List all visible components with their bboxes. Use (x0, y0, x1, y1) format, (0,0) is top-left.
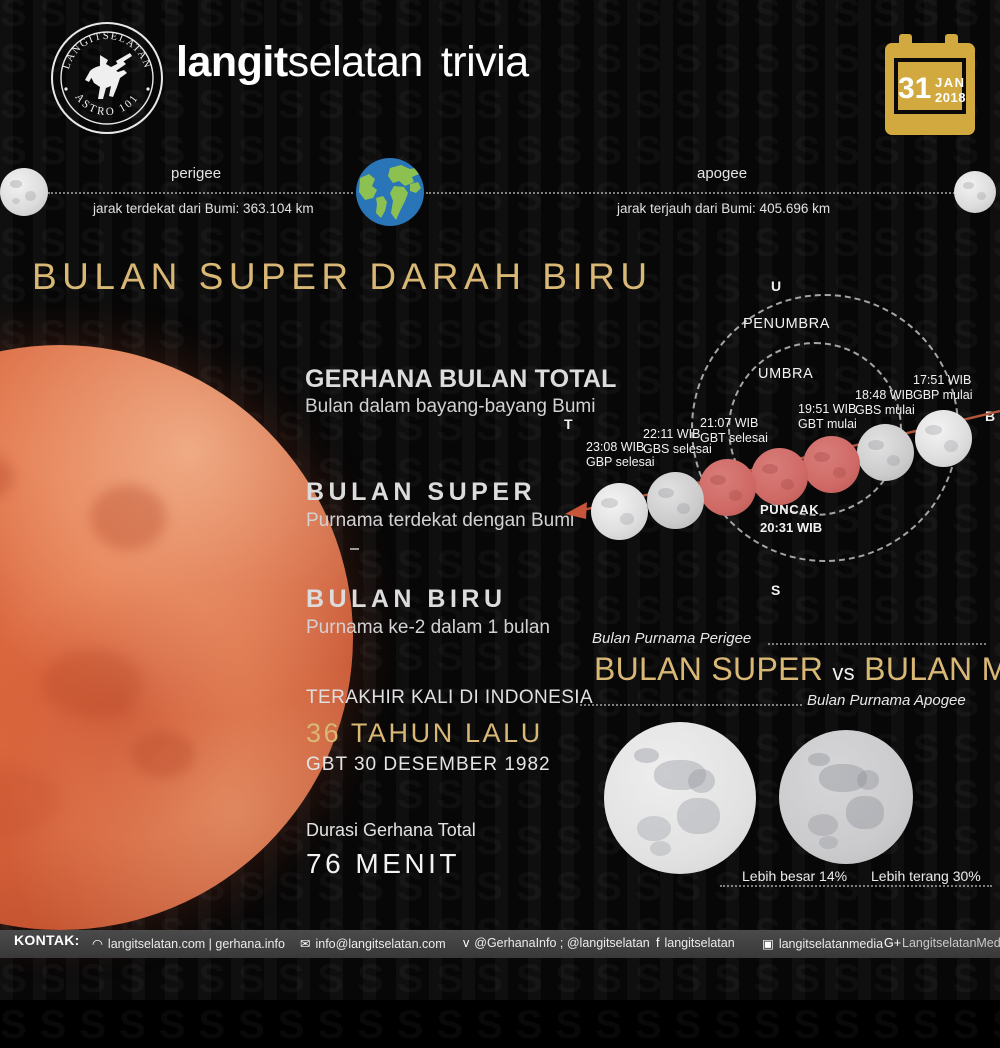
svm-title-right: BULAN MINI (864, 651, 1000, 687)
apogee-moon-icon (954, 171, 996, 213)
rss-icon: ◠ (92, 936, 103, 951)
contact-website-text: langitselatan.com | gerhana.info (108, 937, 285, 951)
contact-email[interactable]: ✉info@langitselatan.com (300, 936, 446, 951)
eclipse-diagram: U S T B PENUMBRA UMBRA 17:51 WIB GB (555, 270, 1000, 620)
phase-time-2: 19:51 WIB (798, 402, 857, 417)
fact-title-1: BULAN SUPER (306, 478, 536, 507)
contact-instagram-text: langitselatanmedia (779, 937, 883, 951)
instagram-icon: ▣ (762, 936, 774, 951)
apogee-dotted-line (426, 192, 955, 194)
perigee-dotted-line (48, 192, 353, 194)
perigee-label: perigee (171, 165, 221, 182)
fact-sub-2: Purnama ke-2 dalam 1 bulan (306, 617, 550, 639)
contact-twitter-text: @GerhanaInfo ; @langitselatan (474, 936, 649, 950)
eclipse-moon-21-07 (699, 459, 756, 516)
contact-instagram[interactable]: ▣langitselatanmedia (762, 936, 883, 951)
phase-time-5: 23:08 WIB (586, 440, 655, 455)
svm-title: BULAN SUPER vs BULAN MINI (594, 651, 1000, 688)
logo-arc-bottom: ASTRO 101 (72, 91, 141, 118)
earth-icon (356, 158, 424, 226)
googleplus-icon: G+ (884, 936, 901, 950)
envelope-icon: ✉ (300, 936, 310, 951)
phase-event-5: GBP selesai (586, 455, 655, 470)
svm-caption-top: Bulan Purnama Perigee (592, 630, 751, 647)
eclipse-moon-19-51 (803, 436, 860, 493)
phase-event-2: GBT mulai (798, 417, 857, 432)
calendar-year: 2018 (935, 90, 966, 105)
last-time-value: 36 TAHUN LALU (306, 718, 543, 749)
langitselatan-logo: LANGITSELATAN ASTRO 101 (48, 19, 166, 137)
contact-website[interactable]: ◠langitselatan.com | gerhana.info (92, 936, 285, 951)
contact-twitter[interactable]: ᴠ@GerhanaInfo ; @langitselatan (463, 936, 650, 950)
small-dash-divider (350, 548, 359, 550)
contact-facebook[interactable]: flangitselatan (656, 936, 735, 950)
contact-label: KONTAK: (14, 932, 80, 948)
brand-title: langitselatantrivia (176, 38, 529, 87)
phase-label-19-51: 19:51 WIB GBT mulai (798, 402, 857, 432)
twitter-icon: ᴠ (463, 936, 469, 950)
fact-sub-1: Purnama terdekat dengan Bumi (306, 510, 574, 532)
brand-light: selatan (288, 38, 423, 86)
svm-note-right: Lebih terang 30% (871, 868, 981, 884)
eclipse-moon-17-51 (915, 410, 972, 467)
facebook-icon: f (656, 936, 659, 950)
calendar-month: JAN (935, 75, 966, 90)
contact-email-text: info@langitselatan.com (315, 937, 445, 951)
eclipse-moon-18-48 (857, 424, 914, 481)
phase-event-0: GBP mulai (913, 388, 973, 403)
phase-event-1: GBS mulai (855, 403, 915, 418)
phase-time-1: 18:48 WIB (855, 388, 915, 403)
perigee-sub: jarak terdekat dari Bumi: 363.104 km (93, 201, 314, 216)
svm-title-vs: vs (832, 660, 855, 685)
svg-text:ASTRO 101: ASTRO 101 (72, 91, 141, 118)
blood-moon-image (0, 345, 353, 930)
contact-googleplus[interactable]: G+LangitselatanMedia (884, 936, 1000, 950)
peak-time: 20:31 WIB (760, 520, 822, 535)
phase-label-18-48: 18:48 WIB GBS mulai (855, 388, 915, 418)
fact-title-2: BULAN BIRU (306, 585, 507, 614)
brand-bold: langit (176, 38, 288, 86)
fact-sub-0: Bulan dalam bayang-bayang Bumi (305, 396, 595, 418)
apogee-label: apogee (697, 165, 747, 182)
peak-label: PUNCAK (760, 502, 819, 517)
phase-time-0: 17:51 WIB (913, 373, 973, 388)
phase-label-23-08: 23:08 WIB GBP selesai (586, 440, 655, 470)
brand-suffix: trivia (441, 38, 529, 86)
duration-value: 76 MENIT (306, 848, 460, 880)
svm-title-left: BULAN SUPER (594, 651, 823, 687)
minimoon-disc (779, 730, 913, 864)
date-badge: 31 JAN 2018 (885, 34, 975, 135)
phase-label-17-51: 17:51 WIB GBP mulai (913, 373, 973, 403)
svm-caption-bottom: Bulan Purnama Apogee (807, 692, 966, 709)
svm-dotline-notes (720, 885, 992, 887)
apogee-sub: jarak terjauh dari Bumi: 405.696 km (617, 201, 830, 216)
super-vs-mini-section: Bulan Purnama Perigee BULAN SUPER vs BUL… (572, 630, 992, 900)
contact-facebook-text: langitselatan (664, 936, 734, 950)
eclipse-moon-22-11 (647, 472, 704, 529)
duration-label: Durasi Gerhana Total (306, 820, 476, 841)
centaur-figure (85, 53, 132, 99)
eclipse-moon-23-08 (591, 483, 648, 540)
eclipse-moon-peak (751, 448, 808, 505)
contact-googleplus-text: LangitselatanMedia (902, 936, 1000, 950)
svm-dotline-top (768, 643, 986, 645)
svm-note-left: Lebih besar 14% (742, 868, 847, 884)
calendar-day: 31 (898, 72, 931, 106)
last-time-label: TERAKHIR KALI DI INDONESIA (306, 687, 593, 709)
supermoon-disc (604, 722, 756, 874)
last-time-detail: GBT 30 DESEMBER 1982 (306, 754, 551, 776)
svm-dotline-bottom (580, 704, 802, 706)
perigee-moon-icon (0, 168, 48, 216)
